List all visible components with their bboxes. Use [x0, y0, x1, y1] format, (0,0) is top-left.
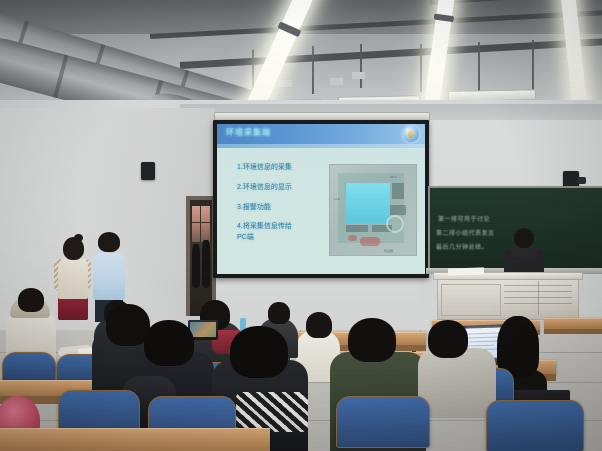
student-cream-coat-head	[306, 312, 332, 338]
blackboard-text: 第一排可用于讨论	[438, 214, 490, 223]
desk	[0, 428, 270, 451]
slide-bullet: 1.环境信息的采集	[237, 162, 292, 172]
projection-screen: 环境采集端 1.环境信息的采集 2.环境信息的显示 3.报警功能 4.将采集信息…	[217, 124, 425, 274]
chair[interactable]	[486, 400, 584, 451]
door-mullion	[200, 206, 201, 242]
ceiling-hanger-rod	[532, 40, 534, 90]
speaker-bracket	[577, 177, 586, 184]
presenter-female-body	[58, 257, 88, 299]
jacket-graphic-print	[236, 392, 308, 432]
podium-cabinet	[441, 284, 501, 316]
presenter-hair-bun	[74, 234, 83, 242]
door-window	[192, 206, 210, 242]
student-olive-jacket-head	[348, 318, 396, 362]
ceiling-vent	[330, 78, 343, 85]
classroom-photo: 环境采集端 1.环境信息的采集 2.环境信息的显示 3.报警功能 4.将采集信息…	[0, 0, 602, 451]
side-monitor-screen	[190, 322, 216, 337]
slide-bullet: 4.将采集信息传给PC端	[237, 222, 293, 243]
podium-papers	[448, 267, 484, 275]
presenter-skirt	[58, 296, 88, 320]
ceiling-hanger-rod	[360, 44, 362, 88]
chair[interactable]	[336, 396, 430, 448]
slide-photo-lcd	[344, 181, 392, 225]
ceiling-hanger-rod	[420, 44, 422, 92]
blackboard-text: 最后几分钟总结。	[436, 242, 488, 251]
slide-bullet: 2.环境信息的显示	[237, 182, 292, 192]
student-white-puffer-head	[18, 288, 44, 312]
slide-logo-icon	[403, 126, 419, 142]
ceiling-vent	[278, 80, 292, 87]
ceiling-vent	[352, 72, 365, 79]
slide-device-photo: LCD MCU 传感器	[329, 164, 417, 256]
door-mullion	[192, 222, 210, 223]
doorway-silhouette	[202, 240, 210, 288]
student-graphic-jacket-head	[230, 326, 288, 378]
chair[interactable]	[2, 352, 56, 382]
ceiling-hanger-rod	[312, 46, 314, 94]
presenter-hair	[98, 232, 120, 252]
slide-header-underline	[217, 144, 425, 148]
slide-bullet: 3.报警功能	[237, 202, 271, 212]
slide-title: 环境采集端	[226, 127, 271, 138]
ceiling-hanger-rod	[478, 42, 480, 92]
desk-edge	[544, 329, 602, 334]
blackboard-text: 第二排小组代表发言	[436, 228, 495, 237]
student-patterned-jacket-head	[144, 320, 194, 366]
presenter-male-body	[93, 252, 125, 300]
wall-speaker	[141, 162, 155, 180]
student-back-head	[268, 302, 290, 324]
teacher-hair	[514, 228, 534, 248]
doorway-silhouette	[192, 244, 200, 288]
student-grey-coat-head	[428, 320, 468, 358]
